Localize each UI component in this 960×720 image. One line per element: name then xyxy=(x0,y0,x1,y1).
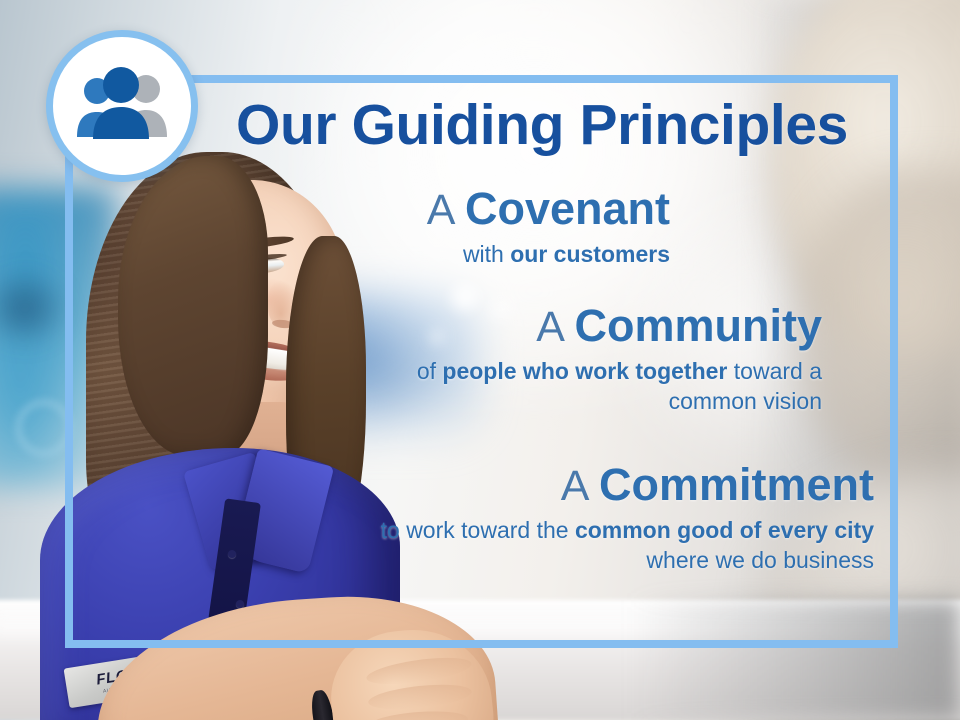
plain-text: to work toward the xyxy=(381,517,575,543)
principle-keyword: Commitment xyxy=(599,459,874,510)
principle-article: A xyxy=(427,186,465,234)
principle-title: A Covenant xyxy=(300,186,670,233)
principle-community: A Community of people who work together … xyxy=(330,303,822,417)
plain-text: of xyxy=(417,358,443,384)
plain-text: where we do business xyxy=(646,547,874,573)
principle-subtitle: to work toward the common good of every … xyxy=(380,516,874,576)
principle-keyword: Covenant xyxy=(465,183,670,234)
principle-keyword: Community xyxy=(575,300,823,351)
principle-covenant: A Covenant with our customers xyxy=(300,186,670,270)
principle-commitment: A Commitment to work toward the common g… xyxy=(380,462,874,576)
poster-canvas: FLOW AUTOMOTIVE FLOW Our Guiding Princip… xyxy=(0,0,960,720)
people-group-icon xyxy=(70,67,174,145)
principle-subtitle: with our customers xyxy=(300,240,670,270)
emphasis-text: common good of every city xyxy=(575,517,874,543)
principle-subtitle: of people who work together toward a com… xyxy=(330,357,822,417)
principle-article: A xyxy=(536,303,574,351)
plain-text: with xyxy=(463,241,510,267)
shirt-button xyxy=(228,550,236,558)
principle-title: A Community xyxy=(330,303,822,350)
emphasis-text: people who work together xyxy=(442,358,727,384)
principle-title: A Commitment xyxy=(380,462,874,509)
principle-article: A xyxy=(561,462,599,510)
people-icon-badge xyxy=(46,30,198,182)
page-title: Our Guiding Principles xyxy=(212,96,872,156)
emphasis-text: our customers xyxy=(510,241,670,267)
desk-shadow xyxy=(630,600,960,720)
